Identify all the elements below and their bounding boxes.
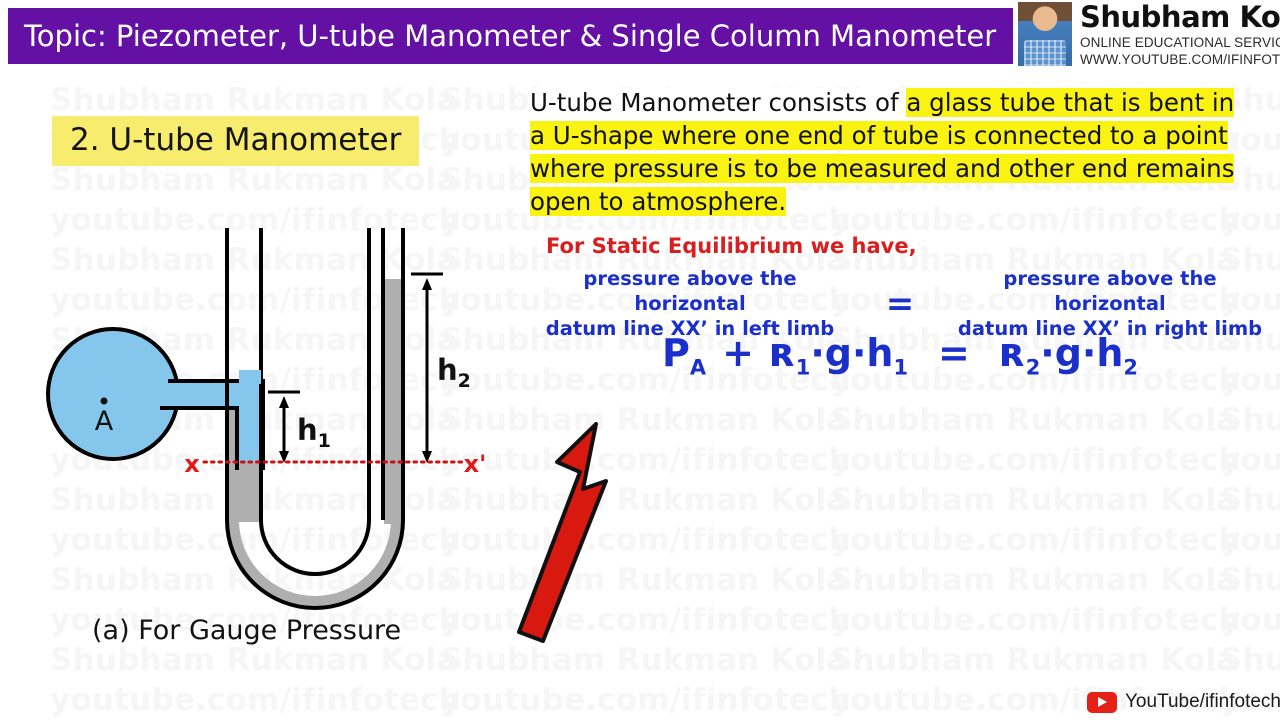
watermark-text: Shubham Rukman Kola (830, 402, 1220, 438)
formula-rho2-symbol: ʀ (1000, 330, 1026, 376)
watermark-text: youtube.com/ifinfotech (50, 442, 440, 478)
left-limb-liquid-blue (239, 383, 261, 462)
formula-rho1-term: ʀ1 (770, 330, 810, 380)
pointer-arrow-icon (519, 424, 606, 641)
watermark-text: youtube.com/ifinfotech (50, 522, 440, 558)
watermark-text: Shubham Rukman Kola (830, 562, 1220, 598)
watermark-text: Shubham Rukman Kola (440, 562, 830, 598)
connecting-pipe-outline-lower (160, 408, 237, 470)
formula-dot-1: · (810, 331, 824, 375)
presenter-photo-icon (1018, 2, 1072, 66)
point-a-dot (101, 398, 108, 405)
definition-line-1: U-tube Manometer consists of a glass tub… (530, 86, 1242, 119)
watermark-text: Shubham Rukman Kola (1220, 402, 1280, 438)
watermark-text: Shubham Rukman Kola (50, 642, 440, 678)
youtube-play-icon (1087, 692, 1117, 713)
pressure-balance-formula: PA + ʀ1 · g · h1 = ʀ2 · g · h2 (530, 330, 1270, 380)
formula-rho2-subscript: 2 (1026, 356, 1041, 380)
watermark-text: youtube.com/ifinfotech (50, 202, 440, 238)
formula-dot-2: · (852, 331, 866, 375)
watermark-text: Shubham Rukman Kola (830, 482, 1220, 518)
formula-rho1-symbol: ʀ (770, 330, 796, 376)
watermark-row: youtube.com/ifinfotechyoutube.com/ifinfo… (50, 522, 1280, 558)
definition-line-3-text: where pressure is to be measured and oth… (530, 154, 1234, 183)
watermark-text: youtube.com/ifinfotech (830, 522, 1220, 558)
formula-g-2: g (1055, 331, 1082, 375)
watermark-text: Shubham Rukman Kola (1220, 642, 1280, 678)
figure-caption: (a) For Gauge Pressure (92, 615, 401, 646)
watermark-row: youtube.com/ifinfotechyoutube.com/ifinfo… (50, 442, 1280, 478)
watermark-text: Shubham Rukman Kola (830, 642, 1220, 678)
formula-p-subscript: A (690, 356, 706, 380)
definition-paragraph: U-tube Manometer consists of a glass tub… (530, 86, 1242, 218)
manometric-fluid-fill (227, 279, 403, 608)
watermark-text: youtube.com/ifinfotech (830, 602, 1220, 638)
watermark-text: Shubham Rukman Kola (50, 162, 440, 198)
brand-tagline: ONLINE EDUCATIONAL SERVICES (1080, 36, 1280, 50)
watermark-row: Shubham Rukman KolaShubham Rukman KolaSh… (50, 482, 1280, 518)
watermark-text: Shubham Rukman Kola (440, 482, 830, 518)
formula-rho2-term: ʀ2 (1000, 330, 1040, 380)
connecting-pipe-blue (160, 383, 261, 406)
watermark-text: youtube.com/ifinfotech (50, 362, 440, 398)
watermark-row: Shubham Rukman KolaShubham Rukman KolaSh… (50, 642, 1280, 678)
brand-logo: Shubham Kola ONLINE EDUCATIONAL SERVICES… (1018, 2, 1280, 68)
watermark-text: Shubham Rukman Kola (50, 482, 440, 518)
formula-equals-sign: = (938, 331, 970, 375)
definition-line-4: open to atmosphere. (530, 185, 1242, 218)
connecting-pipe-outline (168, 381, 263, 470)
formula-h1-subscript: 1 (893, 356, 908, 380)
formula-h2-symbol: h (1096, 331, 1123, 375)
youtube-footer[interactable]: YouTube/ifinfotech (1087, 691, 1280, 713)
h2-arrow-head-down (422, 451, 432, 463)
watermark-text: Shubham Rukman Kola (50, 322, 440, 358)
section-heading: 2. U-tube Manometer (52, 116, 419, 166)
brand-name: Shubham Kola (1080, 3, 1280, 32)
watermark-text: youtube.com/ifinfotech (50, 682, 440, 718)
u-tube-inner-wall (261, 228, 369, 574)
watermark-text: Shubham Rukman Kola (50, 562, 440, 598)
watermark-text: youtube.com/ifinfotech (1220, 602, 1280, 638)
h1-arrow-head-up (279, 396, 289, 408)
formula-p-symbol: P (662, 331, 690, 375)
watermark-text: Shubham Rukman Kola (440, 402, 830, 438)
left-limb-top-cap (239, 370, 261, 384)
watermark-text: youtube.com/ifinfotech (1220, 522, 1280, 558)
slide-root: Shubham Rukman KolaShubham Rukman KolaSh… (0, 0, 1280, 720)
page-title: Topic: Piezometer, U-tube Manometer & Si… (24, 19, 996, 53)
watermark-text: youtube.com/ifinfotech (830, 442, 1220, 478)
equilibrium-equals-sign: = (882, 284, 919, 324)
definition-line-4-text: open to atmosphere. (530, 187, 786, 216)
datum-right-label: x' (464, 450, 487, 478)
formula-g-1: g (825, 331, 852, 375)
formula-dot-3: · (1040, 331, 1054, 375)
definition-line-1-plain: U-tube Manometer consists of (530, 88, 906, 117)
definition-line-3: where pressure is to be measured and oth… (530, 152, 1242, 185)
definition-line-1-highlight: a glass tube that is bent in (906, 88, 1234, 117)
equilibrium-title: For Static Equilibrium we have, (546, 234, 917, 258)
brand-text: Shubham Kola ONLINE EDUCATIONAL SERVICES… (1080, 2, 1280, 66)
formula-rho1-subscript: 1 (796, 356, 811, 380)
watermark-row: Shubham Rukman KolaShubham Rukman KolaSh… (50, 562, 1280, 598)
equilibrium-right-line-1: pressure above the horizontal (950, 266, 1270, 316)
point-a-label: A (95, 406, 114, 437)
h2-arrow-head-up (422, 278, 432, 290)
h1-label: h1 (297, 413, 331, 452)
watermark-text: youtube.com/ifinfotech (50, 282, 440, 318)
u-tube-outer-wall (227, 228, 403, 608)
definition-line-2: a U-shape where one end of tube is conne… (530, 119, 1242, 152)
h1-arrow-head-down (279, 451, 289, 463)
watermark-text: Shubham Rukman Kola (1220, 562, 1280, 598)
definition-line-2-text: a U-shape where one end of tube is conne… (530, 121, 1228, 150)
watermark-text: youtube.com/ifinfotech (440, 682, 830, 718)
watermark-text: youtube.com/ifinfotech (440, 442, 830, 478)
formula-h1-term: h1 (866, 331, 908, 380)
h2-label: h2 (437, 353, 471, 392)
watermark-text: Shubham Rukman Kola (50, 402, 440, 438)
header-bar: Topic: Piezometer, U-tube Manometer & Si… (8, 8, 1013, 64)
watermark-text: Shubham Rukman Kola (50, 82, 440, 118)
watermark-row: Shubham Rukman KolaShubham Rukman KolaSh… (50, 402, 1280, 438)
formula-h2-term: h2 (1096, 331, 1138, 380)
datum-left-label: x (184, 450, 200, 478)
formula-dot-4: · (1082, 331, 1096, 375)
watermark-text: Shubham Rukman Kola (1220, 482, 1280, 518)
watermark-text: Shubham Rukman Kola (440, 642, 830, 678)
watermark-text: Shubham Rukman Kola (50, 242, 440, 278)
watermark-text: youtube.com/ifinfotech (1220, 442, 1280, 478)
vessel-bulb (48, 329, 178, 459)
youtube-channel-label: YouTube/ifinfotech (1125, 691, 1280, 713)
formula-pa: PA (662, 331, 706, 380)
formula-plus-sign: + (722, 331, 754, 375)
formula-h2-subscript: 2 (1123, 356, 1138, 380)
manometric-fluid-right-column (384, 279, 403, 524)
equilibrium-left-line-1: pressure above the horizontal (530, 266, 850, 316)
manometric-fluid-left-column (239, 460, 261, 522)
watermark-text: youtube.com/ifinfotech (440, 522, 830, 558)
brand-url: WWW.YOUTUBE.COM/IFINFOTECH (1080, 53, 1280, 67)
formula-h1-symbol: h (866, 331, 893, 375)
watermark-text: youtube.com/ifinfotech (440, 602, 830, 638)
